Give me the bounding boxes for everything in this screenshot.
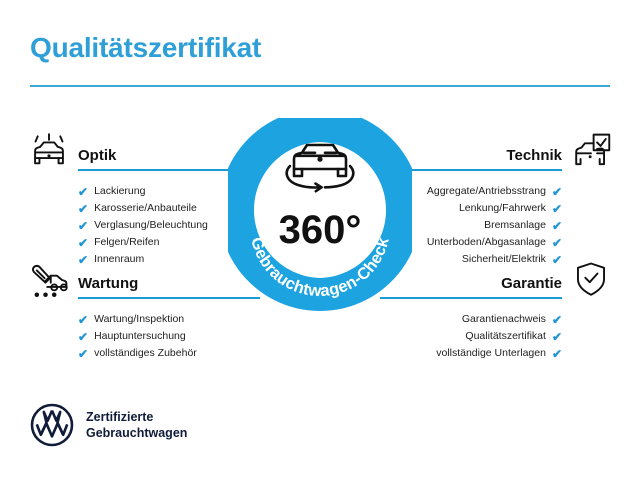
section-wartung: Wartung ✔Wartung/Inspektion ✔Hauptunters… bbox=[30, 256, 260, 362]
section-garantie-title: Garantie bbox=[501, 275, 562, 292]
list-item-label: Karosserie/Anbauteile bbox=[94, 200, 197, 217]
check-icon: ✔ bbox=[552, 331, 562, 343]
list-item: Aggregate/Antriebsstrang✔ bbox=[380, 183, 610, 200]
car-shine-icon bbox=[28, 132, 70, 172]
section-wartung-header: Wartung bbox=[30, 256, 260, 302]
list-item-label: Verglasung/Beleuchtung bbox=[94, 217, 208, 234]
list-item: ✔Felgen/Reifen bbox=[30, 234, 260, 251]
list-item: ✔Verglasung/Beleuchtung bbox=[30, 217, 260, 234]
list-item-label: Bremsanlage bbox=[484, 217, 546, 234]
check-icon: ✔ bbox=[552, 314, 562, 326]
list-item: Unterboden/Abgasanlage✔ bbox=[380, 234, 610, 251]
shield-check-icon bbox=[570, 260, 612, 300]
certificate-page: Qualitätszertifikat Opt bbox=[0, 0, 640, 480]
list-item-label: Unterboden/Abgasanlage bbox=[427, 234, 546, 251]
list-item-label: vollständiges Zubehör bbox=[94, 345, 197, 362]
wrench-car-icon bbox=[28, 260, 70, 300]
list-item-label: Garantienachweis bbox=[462, 311, 546, 328]
list-item-label: vollständige Unterlagen bbox=[436, 345, 546, 362]
list-item-label: Lenkung/Fahrwerk bbox=[459, 200, 546, 217]
section-wartung-title: Wartung bbox=[78, 275, 138, 292]
list-item: ✔vollständiges Zubehör bbox=[30, 345, 260, 362]
check-icon: ✔ bbox=[552, 203, 562, 215]
section-garantie-list: Garantienachweis✔ Qualitätszertifikat✔ v… bbox=[380, 311, 610, 362]
section-technik-header: Technik bbox=[380, 128, 610, 174]
list-item: Lenkung/Fahrwerk✔ bbox=[380, 200, 610, 217]
check-icon: ✔ bbox=[552, 348, 562, 360]
list-item-label: Hauptuntersuchung bbox=[94, 328, 186, 345]
list-item: vollständige Unterlagen✔ bbox=[380, 345, 610, 362]
list-item: ✔Karosserie/Anbauteile bbox=[30, 200, 260, 217]
vw-logo-line1: Zertifizierte bbox=[86, 409, 187, 425]
check-icon: ✔ bbox=[552, 220, 562, 232]
header-divider bbox=[30, 85, 610, 87]
section-technik-title: Technik bbox=[506, 147, 562, 164]
check-icon: ✔ bbox=[78, 331, 88, 343]
badge-360-gebrauchtwagen-check: 360° Gebrauchtwagen-Check bbox=[228, 118, 412, 313]
check-icon: ✔ bbox=[78, 220, 88, 232]
check-icon: ✔ bbox=[552, 237, 562, 249]
badge-center-text: 360° bbox=[279, 208, 362, 252]
list-item: Garantienachweis✔ bbox=[380, 311, 610, 328]
page-title: Qualitätszertifikat bbox=[30, 32, 261, 64]
list-item: Qualitätszertifikat✔ bbox=[380, 328, 610, 345]
vw-certified-logo: Zertifizierte Gebrauchtwagen bbox=[30, 403, 187, 447]
check-icon: ✔ bbox=[78, 237, 88, 249]
vw-logo-line2: Gebrauchtwagen bbox=[86, 425, 187, 441]
list-item: ✔Lackierung bbox=[30, 183, 260, 200]
section-optik: Optik ✔Lackierung ✔Karosserie/Anbauteile… bbox=[30, 128, 260, 268]
section-garantie: Garantie Garantienachweis✔ Qualitätszert… bbox=[380, 256, 610, 362]
section-technik: Technik Aggregate/Antriebsstrang✔ Lenkun… bbox=[380, 128, 610, 268]
vw-logo-text: Zertifizierte Gebrauchtwagen bbox=[86, 409, 187, 441]
list-item-label: Qualitätszertifikat bbox=[465, 328, 546, 345]
check-icon: ✔ bbox=[78, 314, 88, 326]
section-optik-header: Optik bbox=[30, 128, 260, 174]
list-item: Bremsanlage✔ bbox=[380, 217, 610, 234]
car-checkbox-icon bbox=[570, 132, 612, 172]
check-icon: ✔ bbox=[78, 348, 88, 360]
list-item-label: Aggregate/Antriebsstrang bbox=[427, 183, 546, 200]
check-icon: ✔ bbox=[78, 203, 88, 215]
list-item-label: Lackierung bbox=[94, 183, 145, 200]
section-wartung-list: ✔Wartung/Inspektion ✔Hauptuntersuchung ✔… bbox=[30, 311, 260, 362]
section-garantie-header: Garantie bbox=[380, 256, 610, 302]
check-icon: ✔ bbox=[552, 186, 562, 198]
check-icon: ✔ bbox=[78, 186, 88, 198]
list-item-label: Wartung/Inspektion bbox=[94, 311, 184, 328]
list-item: ✔Wartung/Inspektion bbox=[30, 311, 260, 328]
list-item-label: Felgen/Reifen bbox=[94, 234, 159, 251]
vw-logo-icon bbox=[30, 403, 74, 447]
list-item: ✔Hauptuntersuchung bbox=[30, 328, 260, 345]
section-optik-title: Optik bbox=[78, 147, 116, 164]
car-rotation-icon bbox=[287, 145, 354, 191]
